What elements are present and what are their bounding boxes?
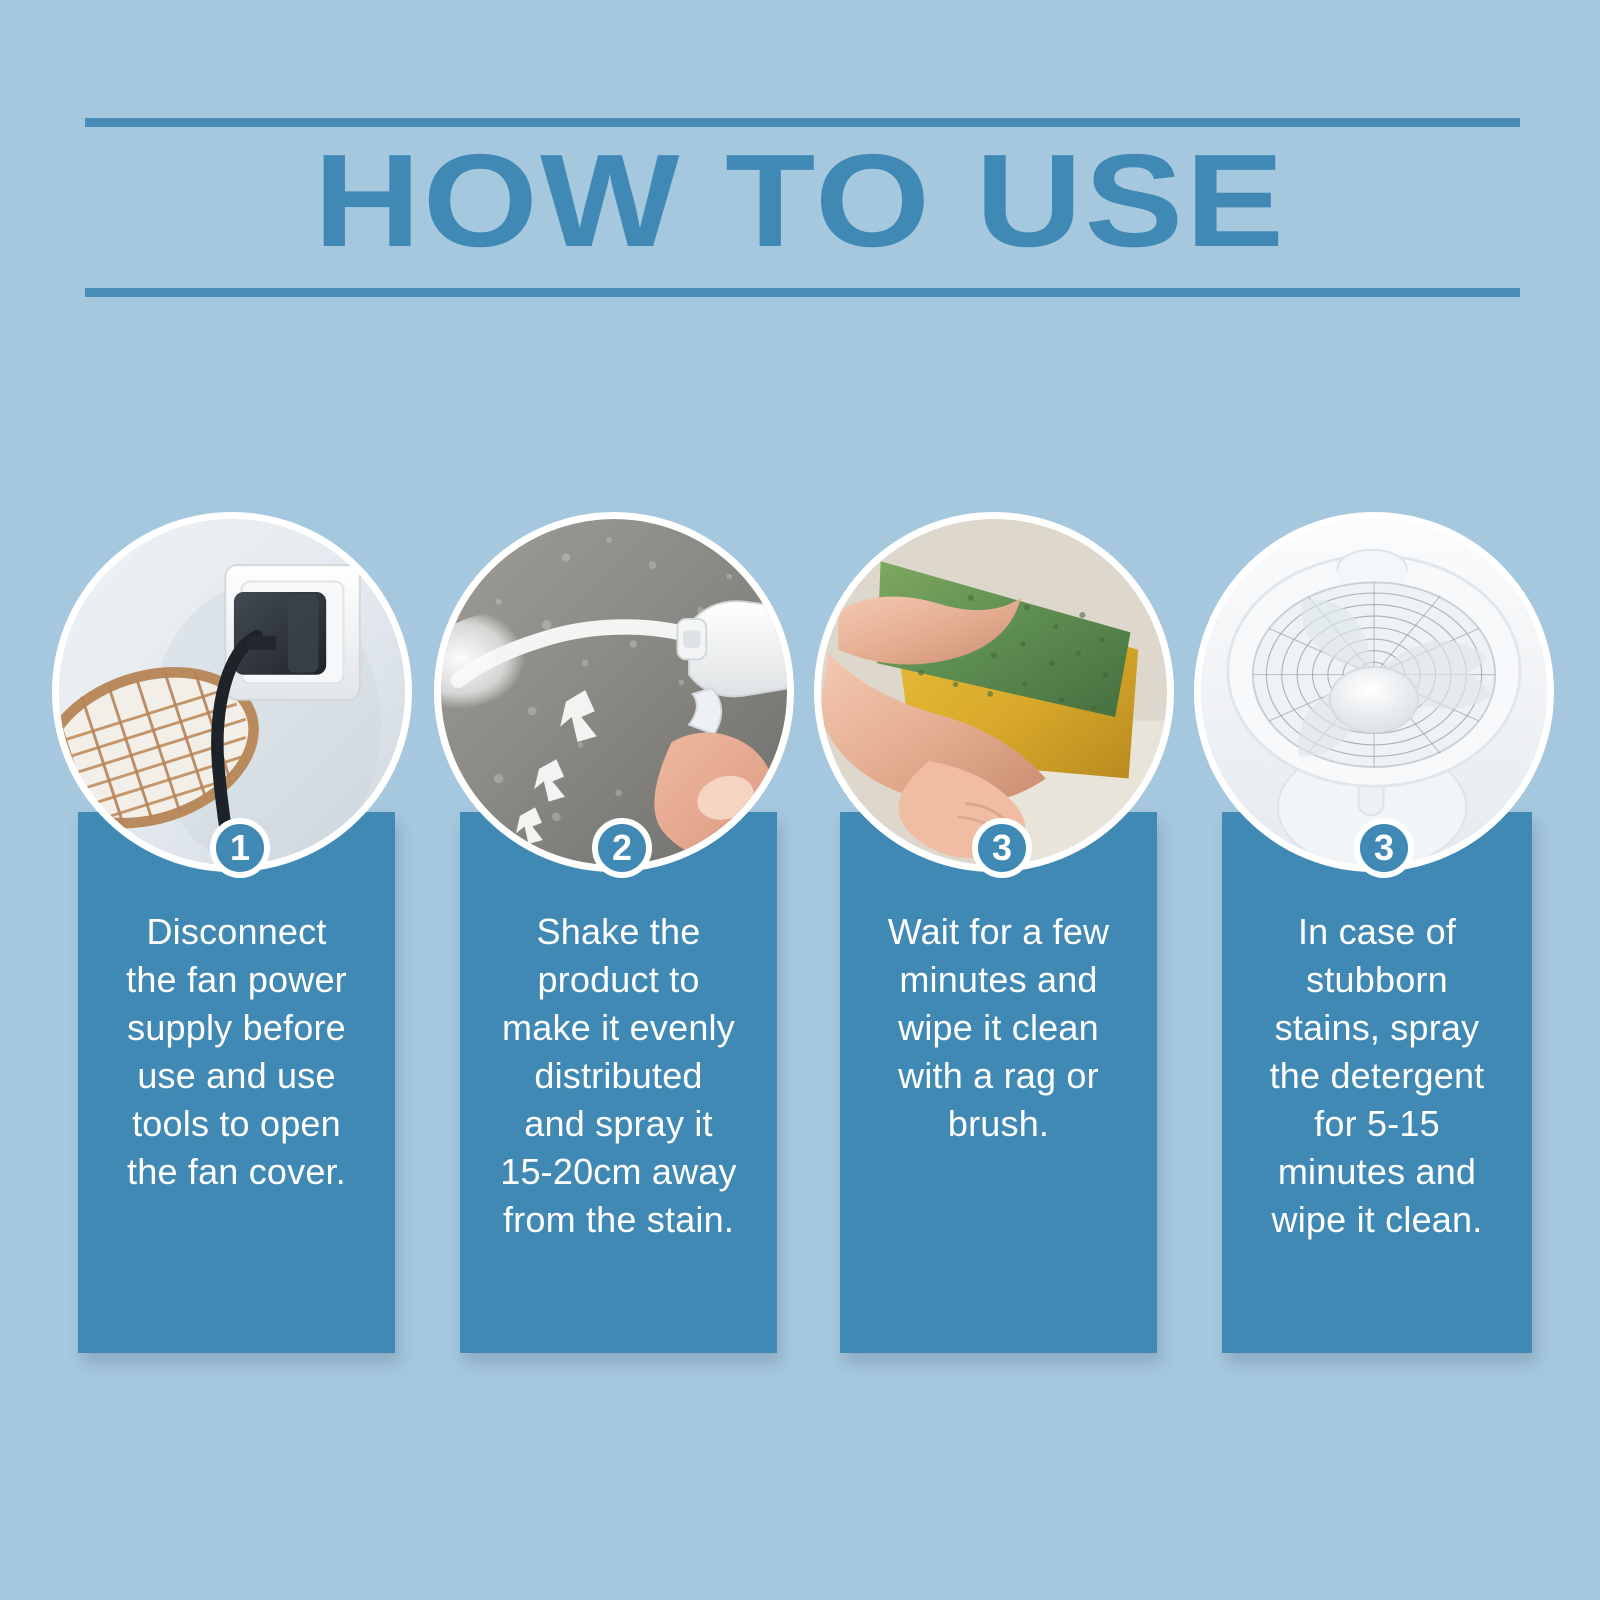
step-description-3: Wait for a few minutes and wipe it clean… (848, 908, 1149, 1148)
steps-container: Disconnect the fan power supply before u… (0, 0, 1600, 1600)
step-number-badge-1: 1 (210, 818, 270, 878)
spray-foam-on-surface-photo (441, 519, 787, 865)
step-panel-3: Wait for a few minutes and wipe it clean… (840, 812, 1157, 1353)
step-description-2: Shake the product to make it evenly dist… (468, 908, 769, 1244)
step-description-4: In case of stubborn stains, spray the de… (1230, 908, 1524, 1244)
step-number-badge-4: 3 (1354, 818, 1414, 878)
white-pedestal-fan-photo (1201, 519, 1547, 865)
step-panel-2: Shake the product to make it evenly dist… (460, 812, 777, 1353)
step-card-4: In case of stubborn stains, spray the de… (1180, 0, 1560, 1600)
step-panel-1: Disconnect the fan power supply before u… (78, 812, 395, 1353)
step-image-4 (1194, 512, 1554, 872)
step-panel-4: In case of stubborn stains, spray the de… (1222, 812, 1532, 1353)
hand-holding-sponge-photo (821, 519, 1167, 865)
step-number-badge-3: 3 (972, 818, 1032, 878)
step-card-2: Shake the product to make it evenly dist… (420, 0, 800, 1600)
step-number-badge-2: 2 (592, 818, 652, 878)
step-card-3: Wait for a few minutes and wipe it clean… (800, 0, 1180, 1600)
step-description-1: Disconnect the fan power supply before u… (86, 908, 387, 1196)
step-card-1: Disconnect the fan power supply before u… (38, 0, 418, 1600)
wall-outlet-with-plug-photo (59, 519, 405, 865)
